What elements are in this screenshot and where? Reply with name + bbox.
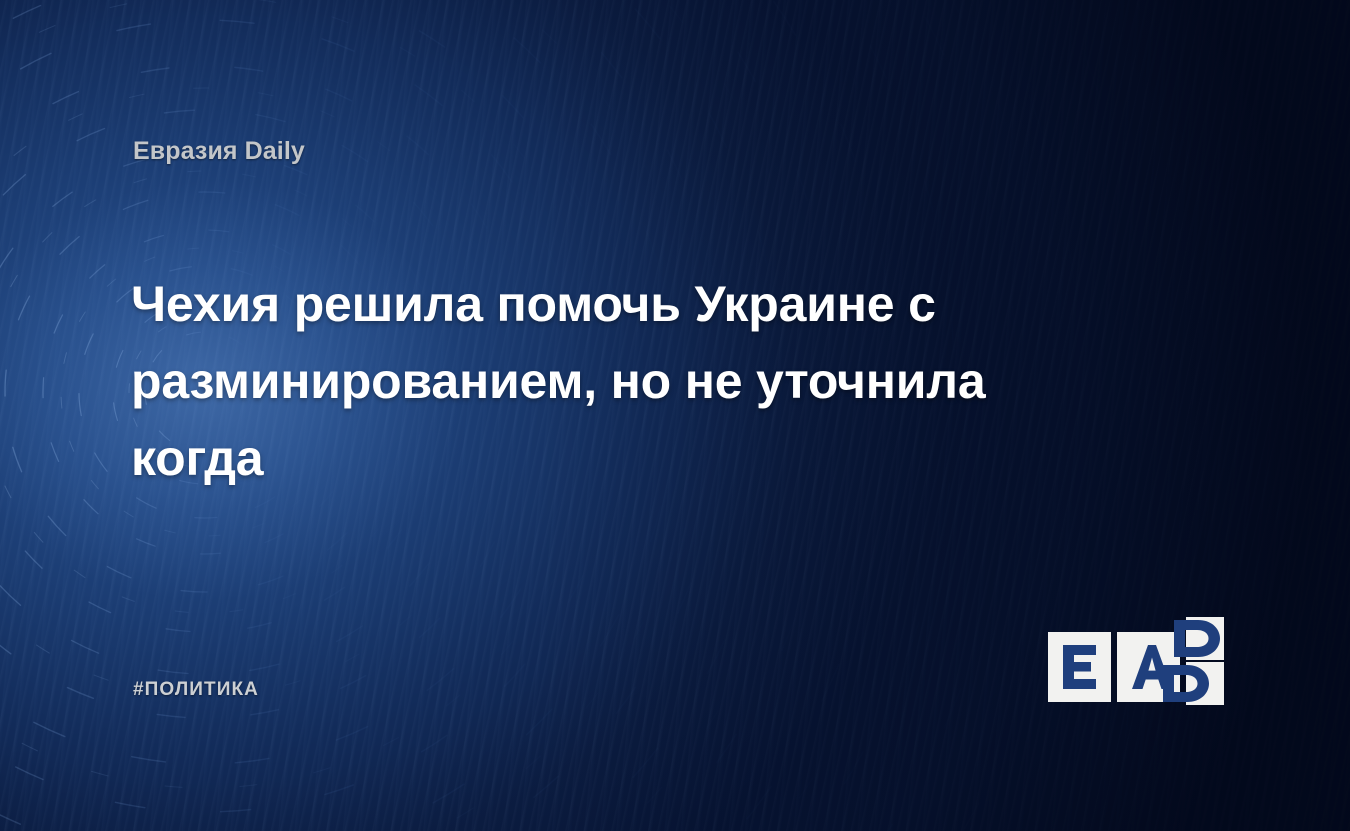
news-card: Евразия Daily Чехия решила помочь Украин… (0, 0, 1350, 831)
category-tag: #ПОЛИТИКА (133, 679, 259, 701)
ead-logo (1046, 614, 1226, 706)
headline-text: Чехия решила помочь Украине с разминиров… (131, 266, 1111, 497)
brand-title: Евразия Daily (133, 137, 305, 166)
